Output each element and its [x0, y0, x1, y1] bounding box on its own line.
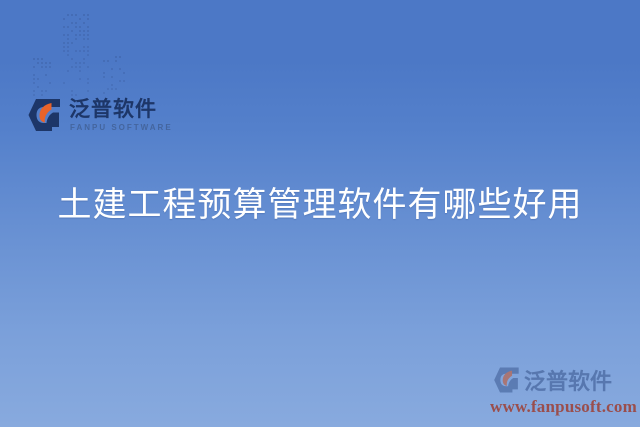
fanpu-logo-mark-icon — [27, 97, 63, 133]
brand-logo: 泛普软件 FANPU SOFTWARE — [27, 96, 167, 142]
watermark-chinese-name: 泛普软件 — [524, 364, 612, 396]
watermark-logo-mark-icon — [492, 366, 522, 394]
site-watermark: 泛普软件 www.fanpusoft.com — [486, 363, 632, 419]
watermark-url: www.fanpusoft.com — [490, 397, 637, 417]
page-title: 土建工程预算管理软件有哪些好用 — [0, 183, 640, 227]
brand-logo-english-name: FANPU SOFTWARE — [70, 123, 173, 132]
brand-logo-chinese-name: 泛普软件 — [69, 96, 157, 122]
watermark-logo-row: 泛普软件 — [486, 363, 632, 397]
pixel-skyline-decoration — [33, 14, 128, 98]
promo-banner: 泛普软件 FANPU SOFTWARE 土建工程预算管理软件有哪些好用 泛普软件… — [0, 0, 640, 427]
